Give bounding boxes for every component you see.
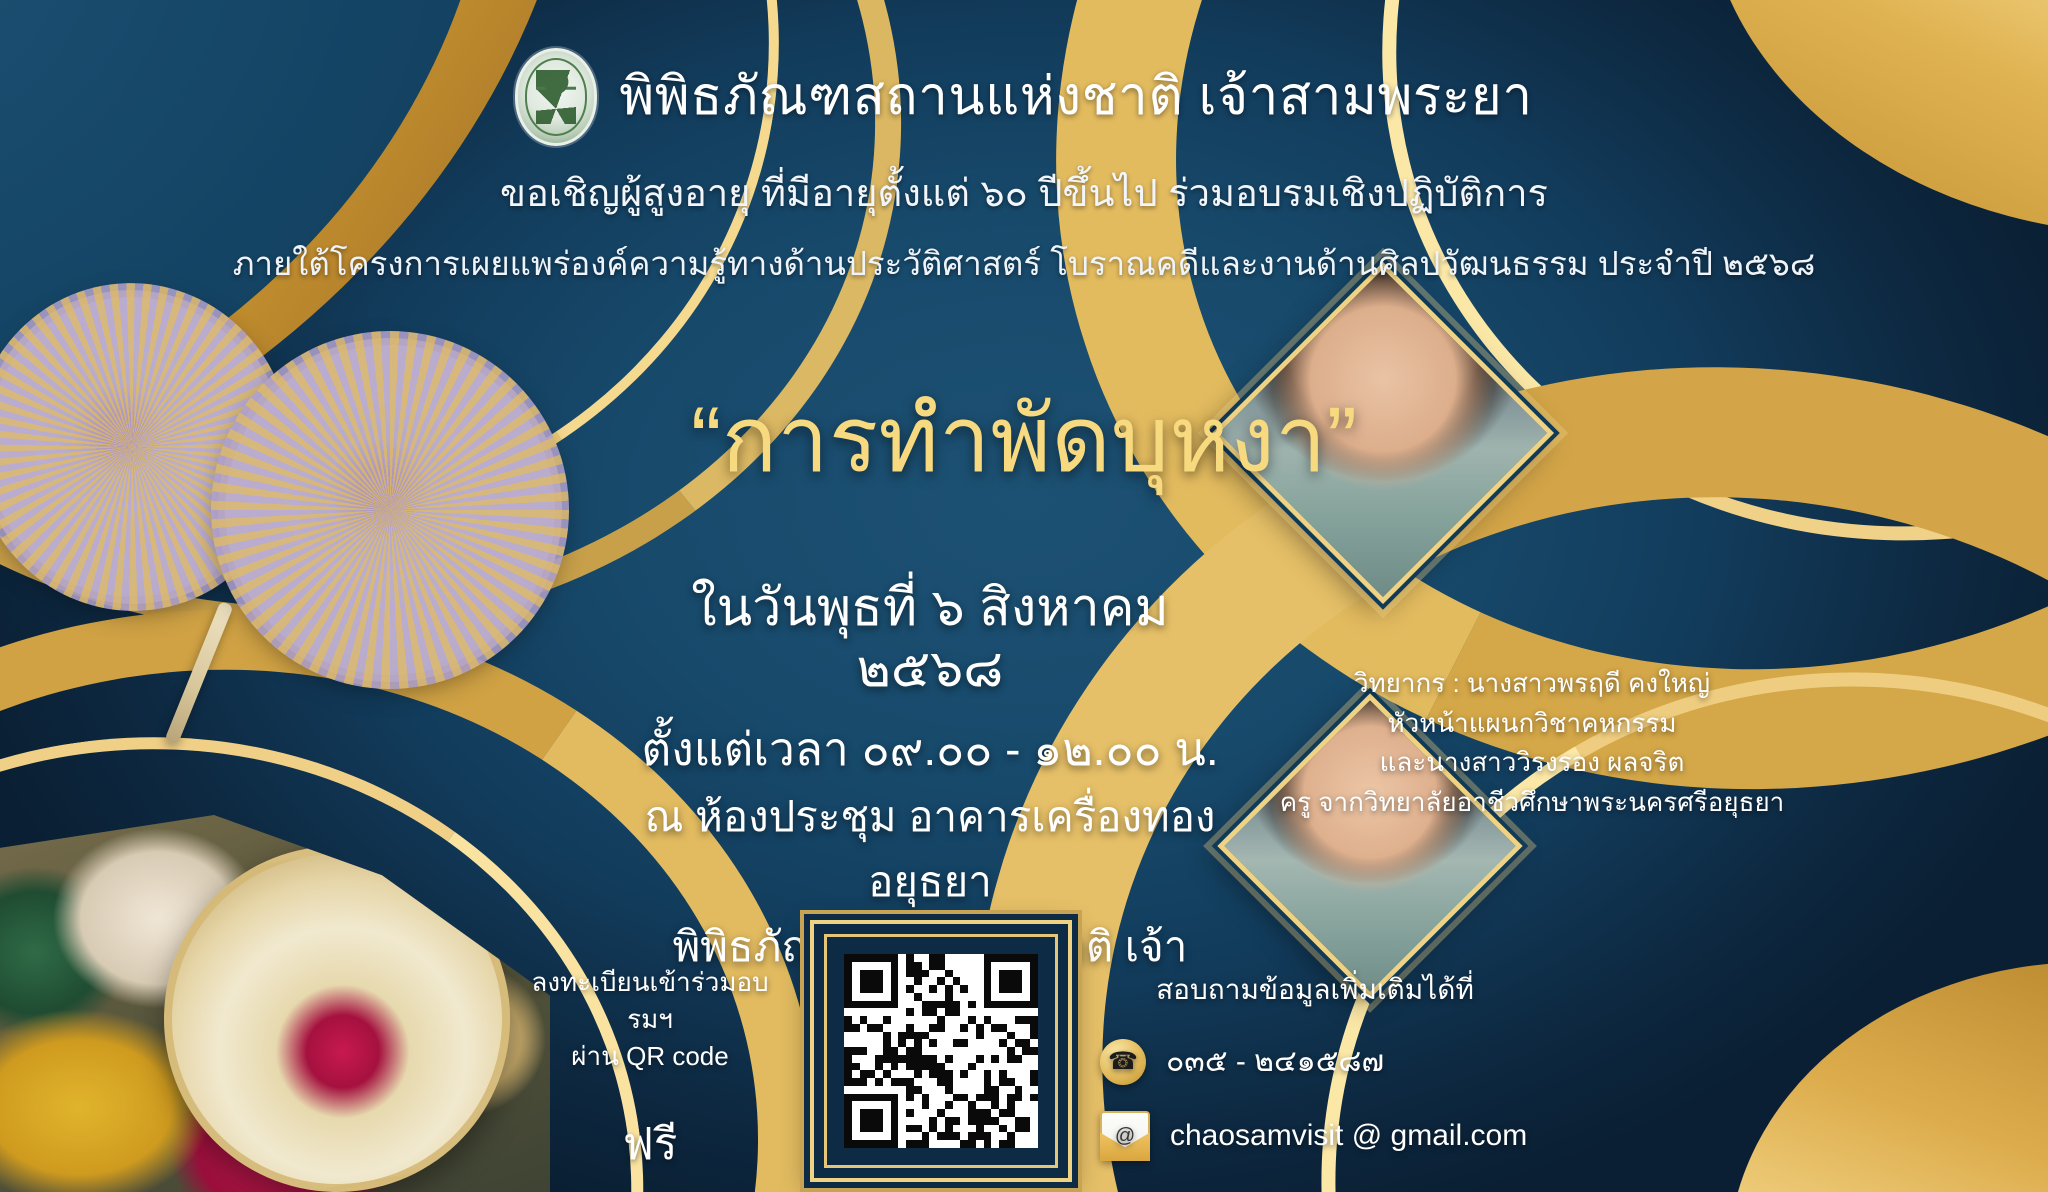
register-line-1: ลงทะเบียนเข้าร่วมอบรมฯ bbox=[520, 964, 780, 1038]
qr-code-frame[interactable] bbox=[810, 920, 1072, 1182]
invitation-line: ขอเชิญผู้สูงอายุ ที่มีอายุตั้งแต่ ๖๐ ปีข… bbox=[0, 172, 2048, 218]
bottom-right-gold-corner bbox=[1728, 962, 2048, 1192]
qr-code[interactable] bbox=[844, 954, 1038, 1148]
free-label: ฟรี bbox=[520, 1109, 780, 1179]
seal-figure bbox=[536, 70, 576, 124]
flower-fan bbox=[137, 819, 538, 1192]
event-poster: พิพิธภัณฑสถานแห่งชาติ เจ้าสามพระยา ขอเชิ… bbox=[0, 0, 2048, 1192]
speaker-line-4: ครู จากวิทยาลัยอาชีวศึกษาพระนครศรีอยุธยา bbox=[1232, 783, 1832, 823]
contact-title: สอบถามข้อมูลเพิ่มเติมได้ที่ bbox=[1100, 968, 1530, 1012]
dried-flowers-photo bbox=[0, 772, 550, 1192]
speaker-line-1: วิทยากร : นางสาวพรฤดี คงใหญ่ bbox=[1232, 664, 1832, 704]
email-address: chaosamvisit @ gmail.com bbox=[1170, 1119, 1527, 1153]
phone-number: ๐๓๕ - ๒๔๑๕๘๗ bbox=[1166, 1038, 1384, 1085]
email-row: @ chaosamvisit @ gmail.com bbox=[1100, 1111, 1530, 1161]
project-line: ภายใต้โครงการเผยแพร่องค์ความรู้ทางด้านปร… bbox=[0, 244, 2048, 284]
speaker-line-3: และนางสาววิรงรอง ผลจริต bbox=[1232, 743, 1832, 783]
register-line-2: ผ่าน QR code bbox=[520, 1038, 780, 1075]
speaker-credits: วิทยากร : นางสาวพรฤดี คงใหญ่ หัวหน้าแผนก… bbox=[1232, 664, 1832, 822]
event-date: ในวันพุธที่ ๖ สิงหาคม ๒๕๖๘ bbox=[640, 578, 1220, 701]
fan-handle bbox=[164, 601, 233, 745]
course-title: “การทำพัดบุหงา” bbox=[0, 392, 2048, 489]
poster-header: พิพิธภัณฑสถานแห่งชาติ เจ้าสามพระยา ขอเชิ… bbox=[0, 48, 2048, 283]
organization-row: พิพิธภัณฑสถานแห่งชาติ เจ้าสามพระยา bbox=[0, 48, 2048, 146]
contact-info: สอบถามข้อมูลเพิ่มเติมได้ที่ ☎ ๐๓๕ - ๒๔๑๕… bbox=[1100, 968, 1530, 1161]
phone-row: ☎ ๐๓๕ - ๒๔๑๕๘๗ bbox=[1100, 1038, 1530, 1085]
event-time: ตั้งแต่เวลา ๐๙.๐๐ - ๑๒.๐๐ น. bbox=[640, 715, 1220, 784]
event-venue-line-1: ณ ห้องประชุม อาคารเครื่องทองอยุธยา bbox=[640, 784, 1220, 914]
register-instructions: ลงทะเบียนเข้าร่วมอบรมฯ ผ่าน QR code ฟรี bbox=[520, 964, 780, 1179]
organization-title: พิพิธภัณฑสถานแห่งชาติ เจ้าสามพระยา bbox=[619, 69, 1532, 125]
speaker-line-2: หัวหน้าแผนกวิชาคหกรรม bbox=[1232, 704, 1832, 744]
phone-icon: ☎ bbox=[1100, 1039, 1146, 1085]
email-icon: @ bbox=[1100, 1111, 1150, 1161]
garuda-seal-icon bbox=[515, 48, 597, 146]
at-glyph: @ bbox=[1115, 1125, 1135, 1148]
